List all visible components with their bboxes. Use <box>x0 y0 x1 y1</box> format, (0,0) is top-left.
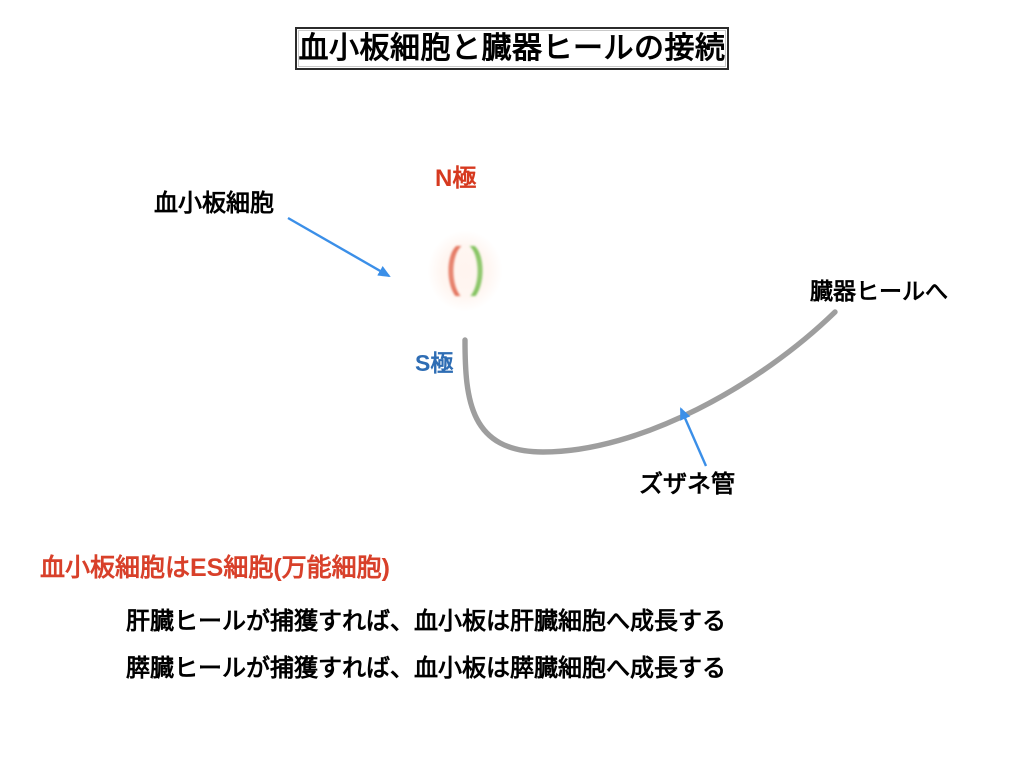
diagram-vector-overlay <box>0 0 1024 768</box>
nucleus-left-crescent <box>448 246 461 296</box>
platelet-cell-label: 血小板細胞 <box>154 192 274 216</box>
slide-canvas: 血小板細胞と臓器ヒールの接続 血小板細胞 <box>0 0 1024 768</box>
n-pole-label: N極 <box>435 167 476 191</box>
notes-line: 肝臓ヒールが捕獲すれば、血小板は肝臓細胞へ成長する <box>126 610 726 634</box>
page-title: 血小板細胞と臓器ヒールの接続 <box>299 34 726 64</box>
platelet-callout-arrow <box>288 218 389 276</box>
s-pole-label: S極 <box>415 352 453 375</box>
nucleus-icon <box>436 240 494 302</box>
to-organ-heel-label: 臓器ヒールへ <box>810 280 948 303</box>
notes-line: 膵臓ヒールが捕獲すれば、血小板は膵臓細胞へ成長する <box>126 657 726 681</box>
notes-heading: 血小板細胞はES細胞(万能細胞) <box>40 556 390 581</box>
page-title-box: 血小板細胞と臓器ヒールの接続 <box>295 27 729 70</box>
nucleus-right-crescent <box>470 246 483 296</box>
zuzane-callout-arrow <box>681 409 706 466</box>
zuzane-tube-label: ズザネ管 <box>639 473 735 497</box>
platelet-cell-sphere <box>392 198 538 344</box>
zuzane-tube-curve <box>465 312 835 452</box>
